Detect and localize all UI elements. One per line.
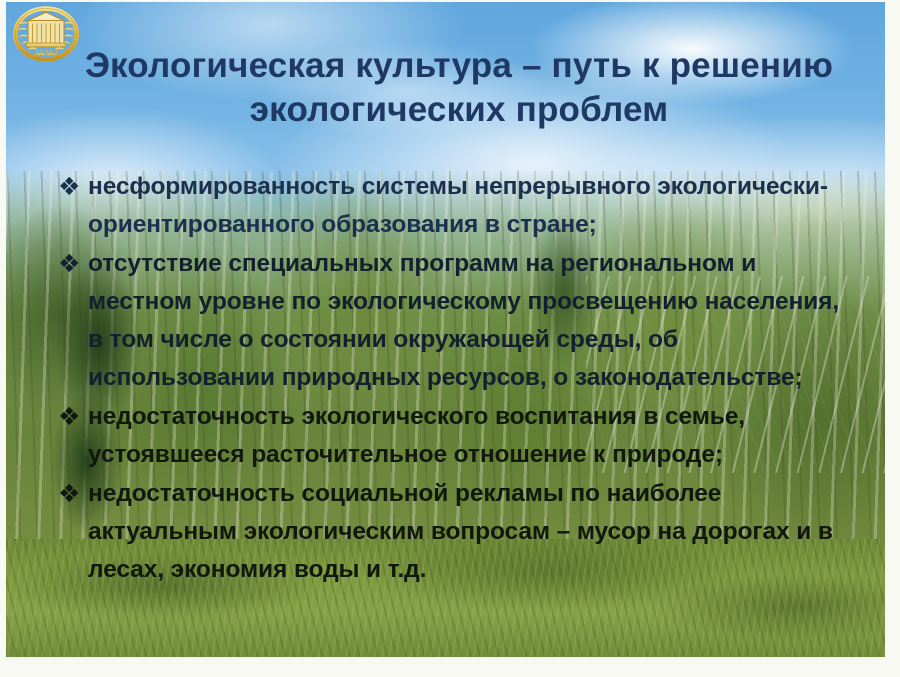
bullet-list: ❖ несформированность системы непрерывног…	[58, 168, 858, 590]
slide-frame-top	[0, 0, 900, 2]
diamond-bullet-icon: ❖	[58, 475, 88, 513]
list-item: ❖ недостаточность социальной рекламы по …	[58, 475, 858, 589]
emblem-caption: ДУМА	[33, 48, 59, 57]
diamond-bullet-icon: ❖	[58, 168, 88, 206]
list-item: ❖ отсутствие специальных программ на рег…	[58, 245, 858, 397]
diamond-bullet-icon: ❖	[58, 398, 88, 436]
page-title: Экологическая культура – путь к решению …	[64, 44, 854, 132]
presentation-slide: ДУМА Экологическая культура – путь к реш…	[0, 0, 900, 677]
slide-frame-bottom	[0, 657, 900, 677]
list-item: ❖ недостаточность экологического воспита…	[58, 398, 858, 474]
diamond-bullet-icon: ❖	[58, 245, 88, 283]
page-title-line-1: Экологическая культура – путь к решению	[64, 44, 854, 88]
list-item-text: отсутствие специальных программ на регио…	[88, 245, 858, 397]
page-title-line-2: экологических проблем	[64, 88, 854, 132]
list-item-text: недостаточность экологического воспитани…	[88, 398, 858, 474]
slide-frame-left	[0, 0, 6, 677]
list-item-text: недостаточность социальной рекламы по на…	[88, 475, 858, 589]
list-item-text: несформированность системы непрерывного …	[88, 168, 858, 244]
slide-frame-right	[885, 0, 900, 677]
list-item: ❖ несформированность системы непрерывног…	[58, 168, 858, 244]
